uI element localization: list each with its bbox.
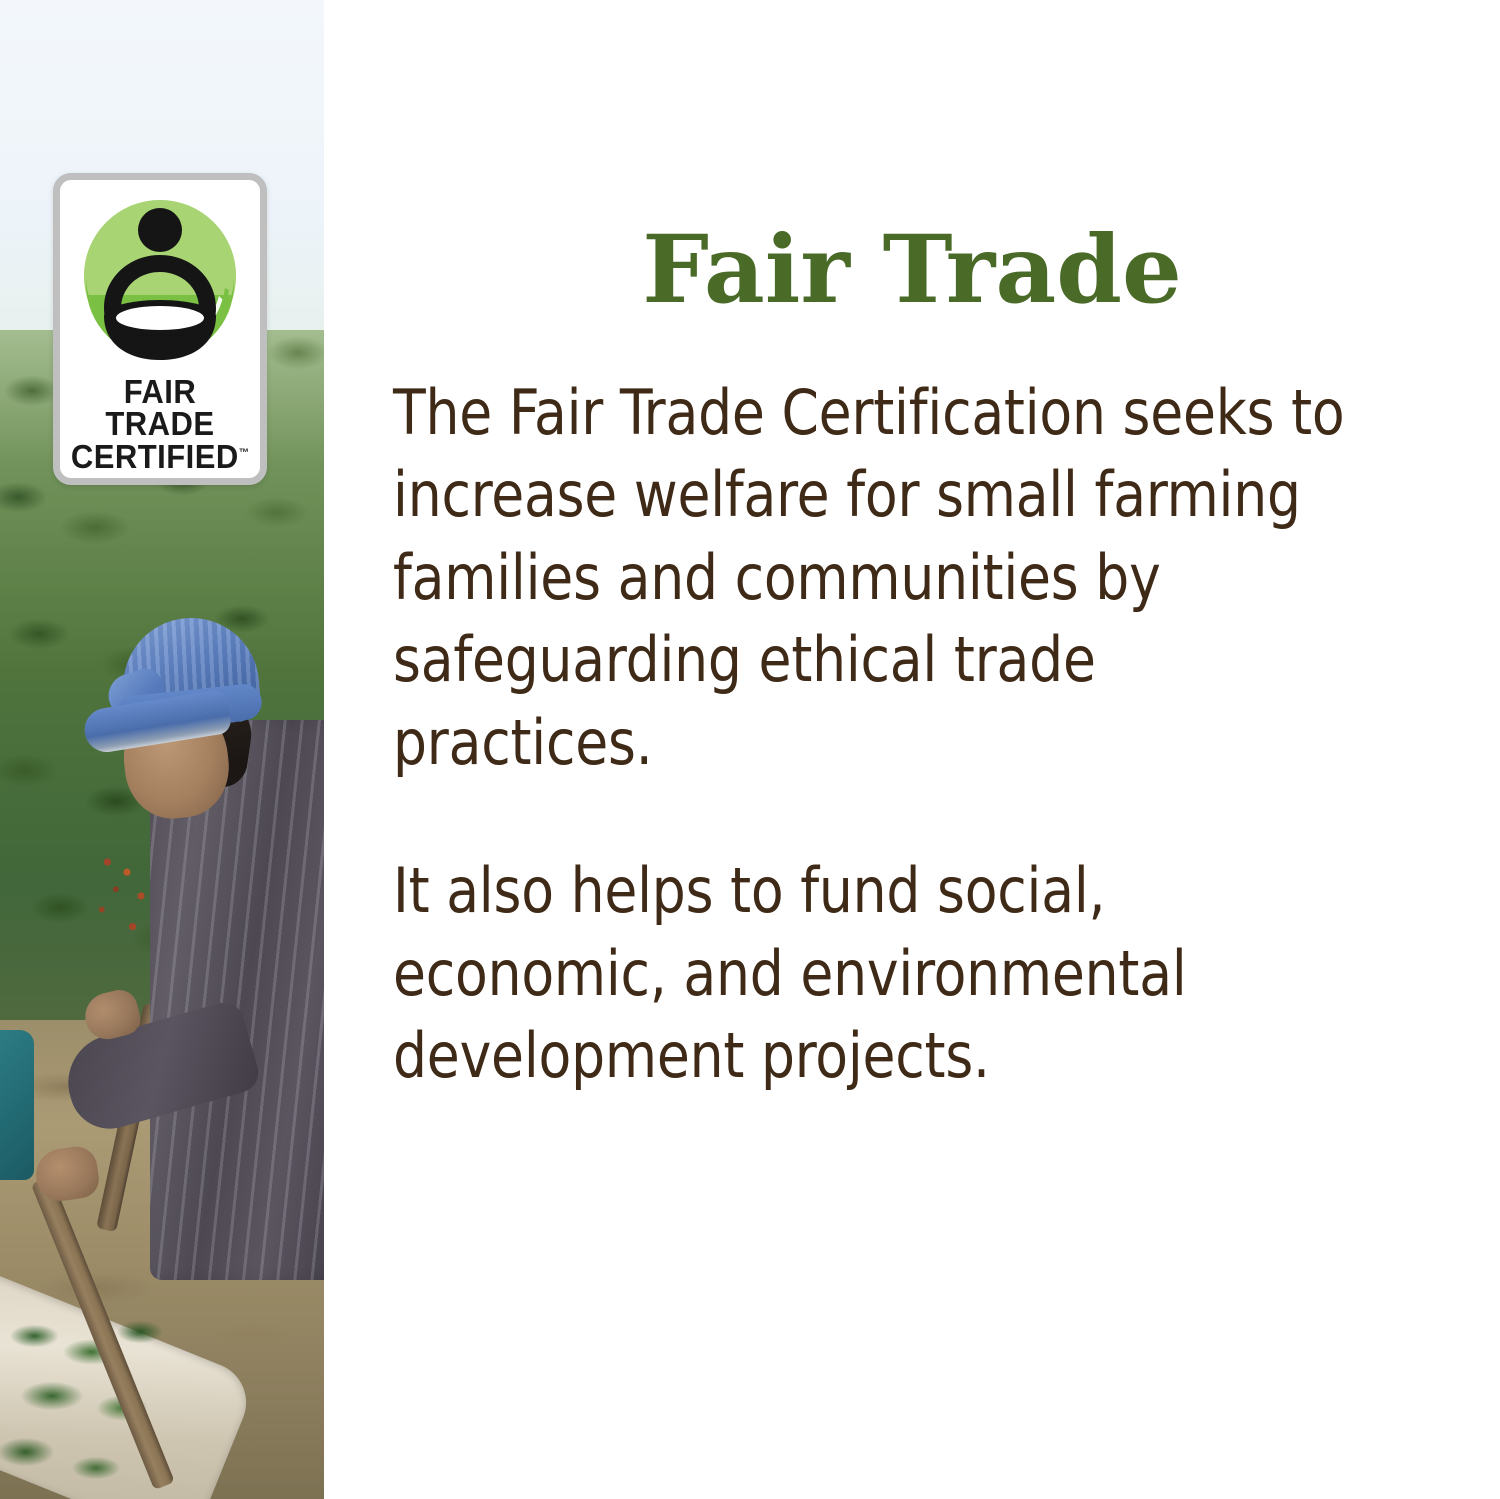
logo-line-2-text: CERTIFIED <box>71 438 239 475</box>
page-title: Fair Trade <box>324 223 1500 317</box>
logo-wordmark: FAIR TRADE CERTIFIED™ <box>60 376 260 473</box>
content-panel: Fair Trade The Fair Trade Certification … <box>324 0 1500 1499</box>
paragraph-1: The Fair Trade Certification seeks to in… <box>393 372 1363 784</box>
coffee-farmer-photo: FAIR TRADE CERTIFIED™ <box>0 0 324 1499</box>
logo-line-2: CERTIFIED™ <box>66 441 254 473</box>
paragraph-2: It also helps to fund social, economic, … <box>393 850 1363 1097</box>
trademark-symbol: ™ <box>239 447 249 459</box>
second-person-teal <box>0 1030 34 1180</box>
logo-line-1: FAIR TRADE <box>66 376 254 441</box>
fair-trade-infographic: FAIR TRADE CERTIFIED™ Fair Trade The Fai… <box>0 0 1500 1499</box>
fair-trade-person-bowl-icon <box>73 192 247 366</box>
fair-trade-certified-logo: FAIR TRADE CERTIFIED™ <box>53 173 267 485</box>
body-copy: The Fair Trade Certification seeks to in… <box>393 372 1403 1098</box>
